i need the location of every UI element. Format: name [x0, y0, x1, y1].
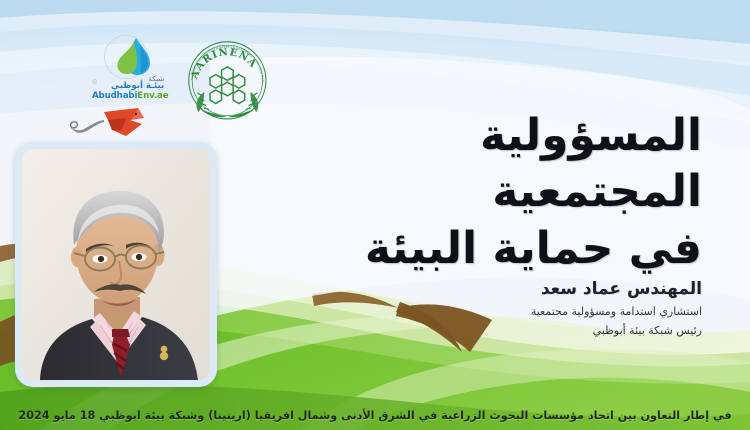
abudhabi-env-arabic-main: بيئـة أبوظبي [111, 81, 164, 91]
abudhabi-env-latin: AbudhabiEnv.ae [92, 91, 168, 101]
logo-at-symbol: ☉ [92, 79, 97, 86]
speaker-role-line-1: استشاري استدامة ومسؤولية مجتمعية [372, 303, 702, 320]
speaker-info: المهندس عماد سعد استشاري استدامة ومسؤولي… [372, 278, 702, 339]
title-line-2: في حماية البيئة [272, 221, 702, 277]
footer-bar: في إطار التعاون بين اتحاد مؤسسات البحوث … [0, 400, 750, 430]
speaker-portrait [22, 149, 210, 380]
speaker-portrait-frame [15, 142, 217, 387]
speaker-name: المهندس عماد سعد [372, 278, 702, 301]
latin-dark: Abudhabi [92, 91, 137, 101]
title-line-1: المسؤولية المجتمعية [272, 108, 702, 221]
slide-title: المسؤولية المجتمعية في حماية البيئة [272, 108, 702, 277]
abudhabi-env-logo: ☉ شبكة بيئـة أبوظبي AbudhabiEnv.ae [92, 36, 165, 102]
presentation-slide: ☉ شبكة بيئـة أبوظبي AbudhabiEnv.ae Assoc… [0, 0, 750, 430]
logo-row: ☉ شبكة بيئـة أبوظبي AbudhabiEnv.ae Assoc… [92, 36, 272, 116]
latin-accent: Env [137, 91, 154, 101]
footer-caption: في إطار التعاون بين اتحاد مؤسسات البحوث … [18, 409, 731, 422]
speaker-role-line-2: رئيس شبكة بيئة أبوظبي [372, 322, 702, 339]
aarinena-logo: Association of Agricultural Research Ins… [183, 36, 272, 128]
latin-tail: .ae [154, 91, 169, 101]
leaf-droplet-icon [110, 36, 158, 78]
svg-text:AARINENA: AARINENA [188, 46, 259, 81]
